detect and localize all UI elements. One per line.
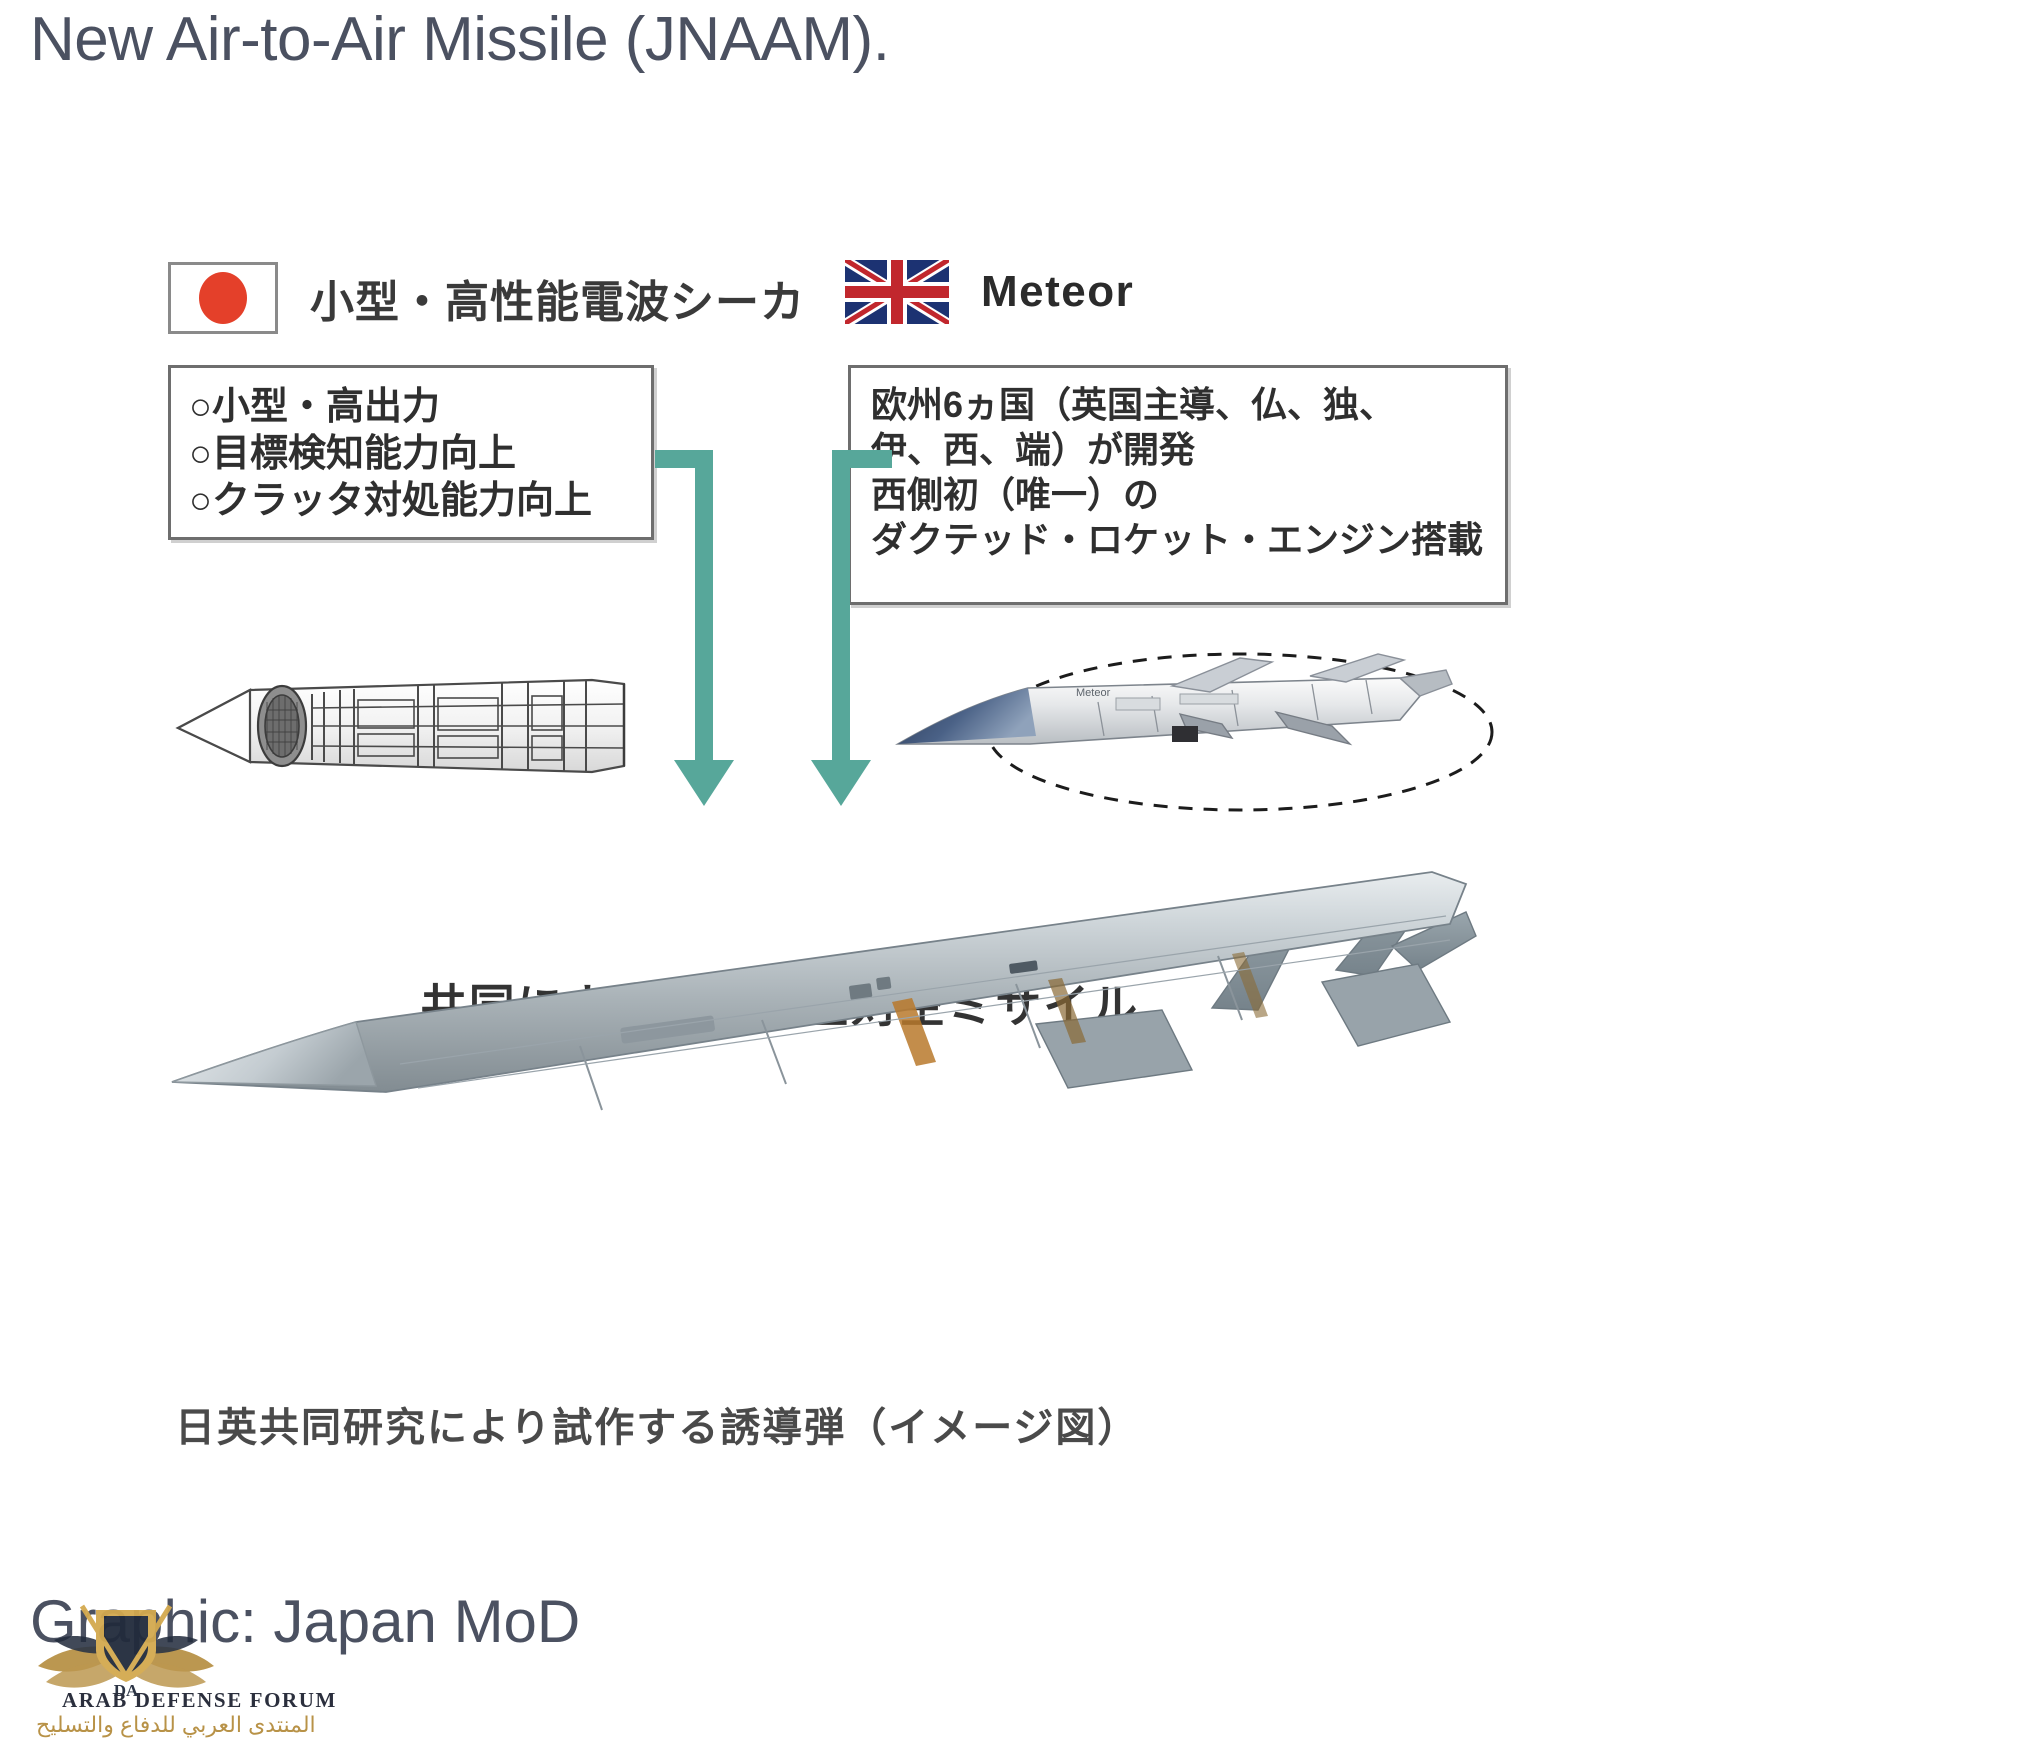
arrow-head-down-icon [674,760,734,806]
watermark-arabic: المنتدى العربي للدفاع والتسليح [36,1712,316,1738]
radar-seeker-illustration [172,650,652,800]
page-title: New Air-to-Air Missile (JNAAM). [30,6,889,74]
seeker-feature-line: ○小型・高出力 [189,384,633,431]
seeker-feature-line: ○目標検知能力向上 [189,431,633,478]
bottom-caption: 日英共同研究により試作する誘導弾（イメージ図） [175,1395,1139,1453]
watermark-name: ARAB DEFENSE FORUM [62,1688,337,1713]
graphic-page: New Air-to-Air Missile (JNAAM). 小型・高性能電波… [0,0,2040,1724]
legend-item-uk: Meteor [845,260,1134,324]
arrow-stem-vertical [695,450,713,762]
uk-flag-icon [845,260,949,324]
arrow-seeker-to-jnaam [655,450,765,810]
jnaam-diagram: 小型・高性能電波シーカ Meteor ○小型・高出力 ○目標検知能力向上 ○クラ… [0,120,2040,1550]
svg-text:Meteor: Meteor [1076,687,1111,699]
meteor-feature-line: ダクテッド・ロケット・エンジン搭載 [871,517,1487,562]
jnaam-missile-illustration [150,820,1480,1140]
seeker-feature-box: ○小型・高出力 ○目標検知能力向上 ○クラッタ対処能力向上 [168,365,654,540]
arrow-stem-vertical [832,450,850,762]
japan-flag-disc [199,272,247,324]
meteor-feature-line: 欧州6ヵ国（英国主導、仏、独、 [871,382,1487,427]
japan-flag-icon [168,262,278,334]
meteor-missile-illustration: Meteor [880,640,1500,820]
legend-label-uk: Meteor [981,267,1134,317]
meteor-feature-box: 欧州6ヵ国（英国主導、仏、独、 伊、西、端）が開発 西側初（唯一）の ダクテッド… [848,365,1508,605]
seeker-feature-line: ○クラッタ対処能力向上 [189,478,633,525]
legend-label-japan: 小型・高性能電波シーカ [310,266,805,330]
meteor-feature-line: 西側初（唯一）の [871,472,1487,517]
legend-item-japan: 小型・高性能電波シーカ [168,262,805,334]
arrow-head-down-icon [811,760,871,806]
uk-flag-cross-red-horizontal [845,286,949,298]
meteor-feature-line: 伊、西、端）が開発 [871,427,1487,472]
